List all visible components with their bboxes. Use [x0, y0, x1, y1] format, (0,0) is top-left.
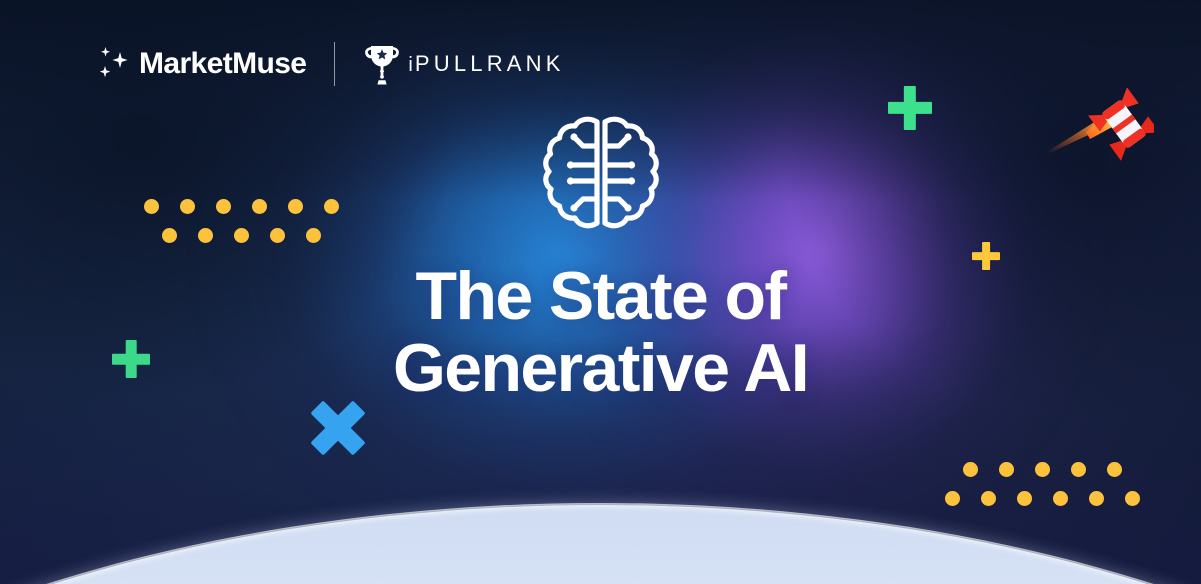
hero-title-block: The State of Generative AI	[0, 260, 1201, 404]
dot	[1107, 462, 1122, 477]
dot	[1071, 462, 1086, 477]
marketmuse-logo[interactable]: MarketMuse	[96, 44, 306, 84]
sparkle-icon	[96, 44, 130, 84]
hero-title-line-2: Generative AI	[0, 332, 1201, 404]
dot	[1089, 491, 1104, 506]
ipullrank-wordmark: iPULLRANK	[408, 53, 564, 75]
banner-hero: MarketMuse iPULLRANK	[0, 0, 1201, 584]
dot	[999, 462, 1014, 477]
dot-grid-right	[945, 462, 1140, 506]
ipullrank-logo[interactable]: iPULLRANK	[363, 43, 564, 85]
hero-icon-wrap	[0, 113, 1201, 237]
dot-grid-row	[963, 462, 1140, 477]
dot	[981, 491, 996, 506]
dot	[945, 491, 960, 506]
marketmuse-wordmark: MarketMuse	[139, 49, 306, 79]
dot-grid-row	[945, 491, 1140, 506]
logo-divider	[334, 42, 335, 86]
dot	[1035, 462, 1050, 477]
dot	[1125, 491, 1140, 506]
logo-bar: MarketMuse iPULLRANK	[96, 42, 565, 86]
hero-title-line-1: The State of	[0, 260, 1201, 332]
trophy-icon	[363, 43, 401, 85]
dot	[1053, 491, 1068, 506]
x-shape-blue	[308, 398, 368, 458]
brain-circuit-icon	[543, 113, 659, 237]
dot	[1017, 491, 1032, 506]
dot	[963, 462, 978, 477]
ipullrank-name: PULLRANK	[415, 51, 565, 76]
